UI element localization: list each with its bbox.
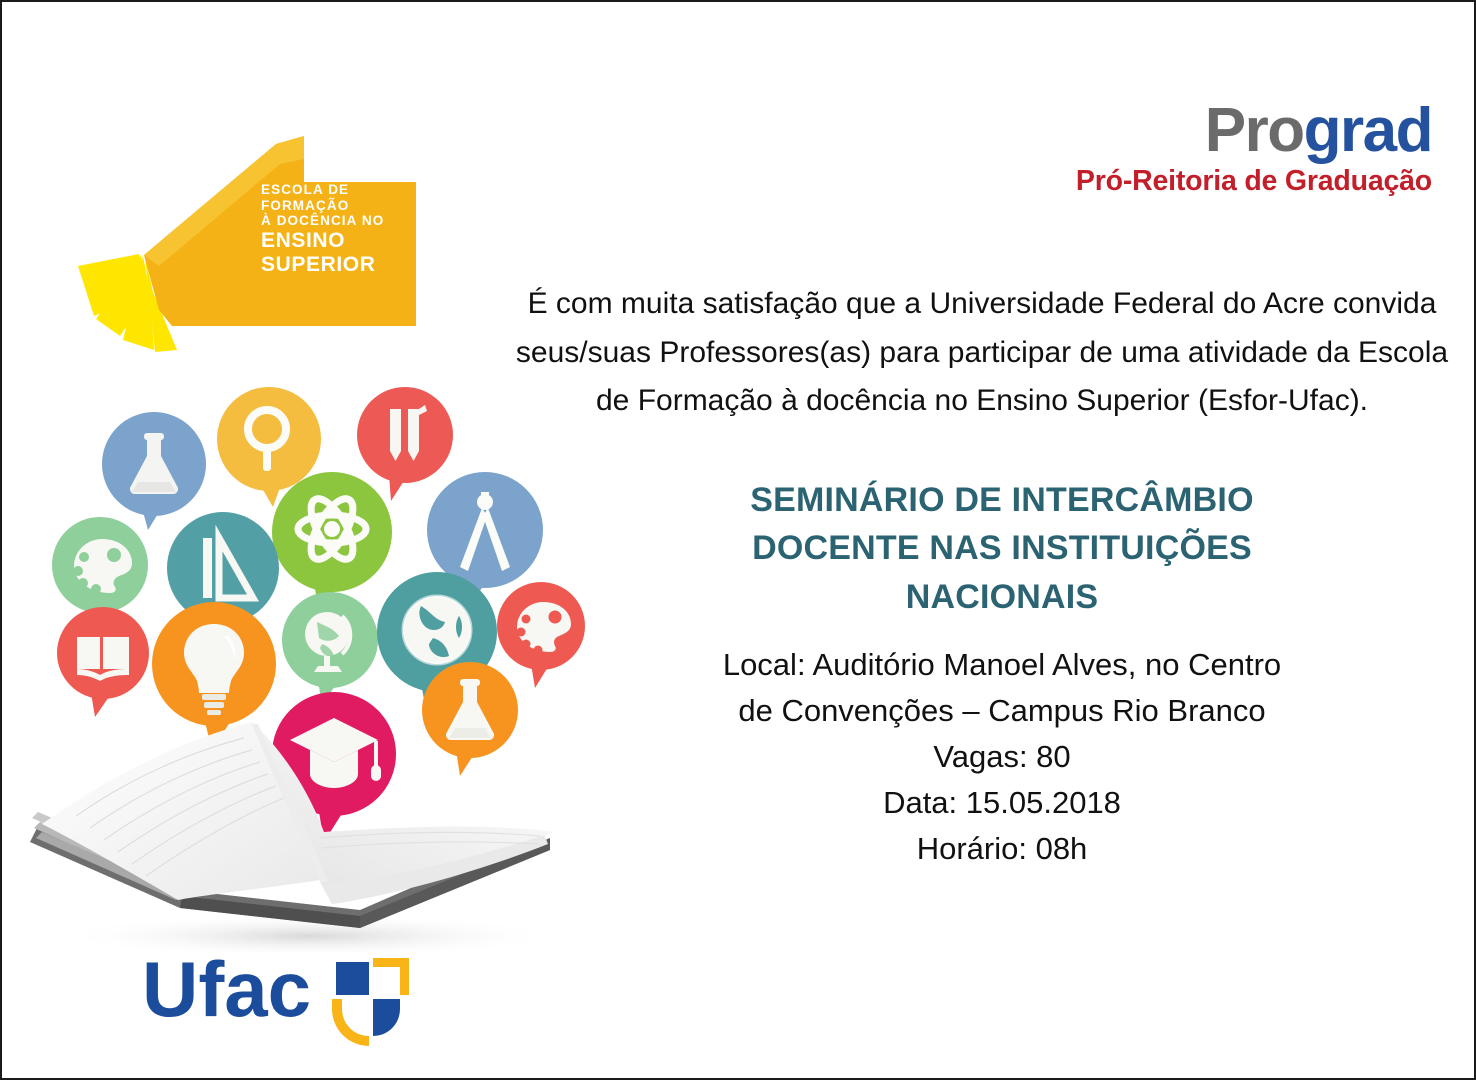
event-location-line-1: Local: Auditório Manoel Alves, no Centro — [682, 642, 1322, 688]
open-book-illustration — [20, 692, 580, 952]
prograd-subtitle: Pró-Reitoria de Graduação — [1076, 165, 1432, 198]
prograd-logo: Prograd Pró-Reitoria de Graduação — [1076, 102, 1432, 198]
esfor-line-2: FORMAÇÃO — [261, 198, 431, 214]
event-title: SEMINÁRIO DE INTERCÂMBIO DOCENTE NAS INS… — [692, 476, 1312, 621]
event-details: Local: Auditório Manoel Alves, no Centro… — [682, 642, 1322, 871]
event-seats: Vagas: 80 — [682, 734, 1322, 780]
event-location-line-2: de Convenções – Campus Rio Branco — [682, 688, 1322, 734]
ufac-shield-icon — [332, 958, 409, 1046]
invitation-line-2: seus/suas Professores(as) para participa… — [507, 329, 1457, 378]
esfor-logo: ESCOLA DE FORMAÇÃO À DOCÊNCIA NO ENSINO … — [64, 114, 464, 364]
event-title-line-2: DOCENTE NAS INSTITUIÇÕES — [692, 524, 1312, 572]
esfor-line-1: ESCOLA DE — [261, 182, 431, 198]
event-title-line-3: NACIONAIS — [692, 573, 1312, 621]
invitation-line-1: É com muita satisfação que a Universidad… — [507, 280, 1457, 329]
ufac-logo: Ufac — [142, 940, 432, 1050]
ufac-wordmark: Ufac — [142, 945, 311, 1033]
event-date: Data: 15.05.2018 — [682, 780, 1322, 826]
esfor-logo-text: ESCOLA DE FORMAÇÃO À DOCÊNCIA NO ENSINO … — [261, 182, 431, 278]
invitation-line-3: de Formação à docência no Ensino Superio… — [507, 377, 1457, 426]
esfor-line-5: SUPERIOR — [261, 253, 431, 277]
event-title-line-1: SEMINÁRIO DE INTERCÂMBIO — [692, 476, 1312, 524]
esfor-line-4: ENSINO — [261, 229, 431, 253]
poster-canvas: ESCOLA DE FORMAÇÃO À DOCÊNCIA NO ENSINO … — [0, 0, 1476, 1080]
invitation-paragraph: É com muita satisfação que a Universidad… — [507, 280, 1457, 426]
prograd-word-pro: Pro — [1205, 96, 1304, 165]
esfor-line-3: À DOCÊNCIA NO — [261, 213, 431, 229]
prograd-wordmark: Prograd — [1076, 102, 1432, 161]
event-time: Horário: 08h — [682, 826, 1322, 872]
prograd-word-grad: grad — [1304, 96, 1432, 165]
